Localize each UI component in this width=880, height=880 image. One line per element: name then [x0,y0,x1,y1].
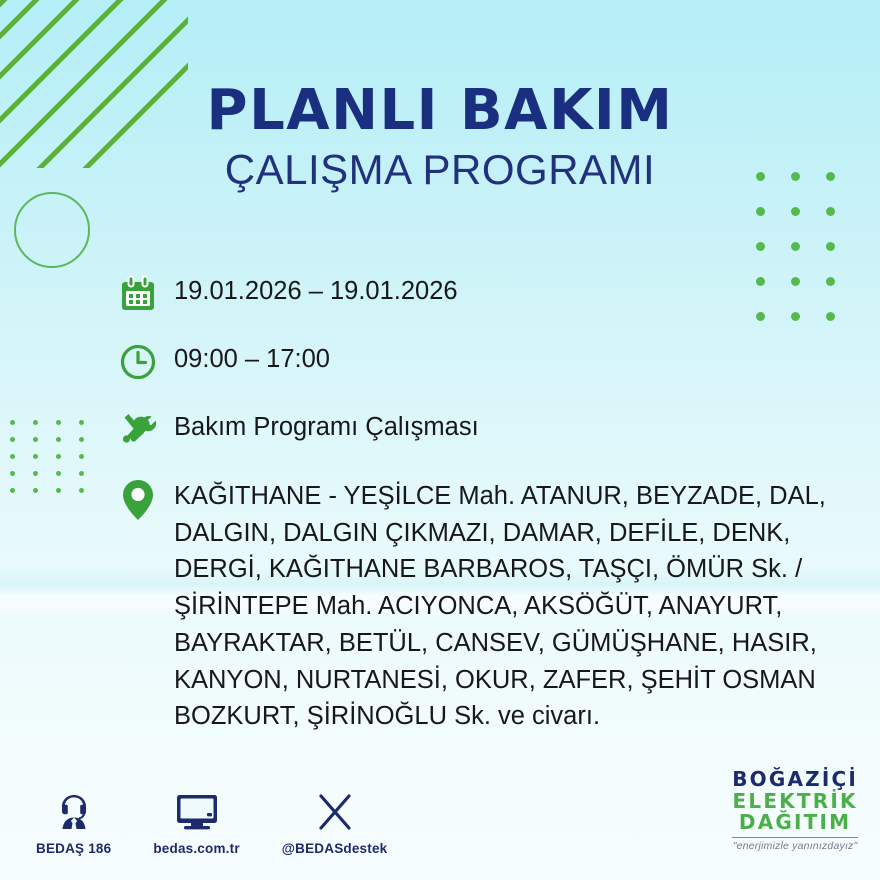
decoration-dot [79,454,84,459]
decoration-dot [33,437,38,442]
support-headset-icon [53,789,95,833]
decoration-dot [33,454,38,459]
decoration-dot [826,207,835,216]
contact-list: BEDAŞ 186 bedas.com.tr [36,789,387,856]
decoration-dot [10,420,15,425]
decoration-dot [56,454,61,459]
contact-social-label: @BEDASdestek [282,841,388,856]
page-title: PLANLI BAKIM ÇALIŞMA PROGRAMI [0,82,880,193]
decoration-dot [10,454,15,459]
decoration-dot [756,207,765,216]
date-range-value: 19.01.2026 – 19.01.2026 [174,272,458,308]
time-range-value: 09:00 – 17:00 [174,340,330,376]
circle-outline-decoration [14,192,90,268]
clock-icon [118,340,174,382]
decoration-dot [10,471,15,476]
info-list: 19.01.2026 – 19.01.2026 09:00 – 17:00 [118,272,840,735]
decoration-dot [56,471,61,476]
contact-website-label: bedas.com.tr [153,841,239,856]
decoration-dot [10,488,15,493]
decoration-dot [56,437,61,442]
decoration-dot [756,242,765,251]
decoration-dot [33,471,38,476]
title-sub: ÇALIŞMA PROGRAMI [0,147,880,193]
footer: BEDAŞ 186 bedas.com.tr [0,766,880,862]
decoration-dot [791,242,800,251]
info-row-work-type: Bakım Programı Çalışması [118,408,840,450]
location-pin-icon [118,476,174,522]
info-row-date: 19.01.2026 – 19.01.2026 [118,272,840,314]
contact-phone-label: BEDAŞ 186 [36,841,111,856]
decoration-dot [79,437,84,442]
decoration-dot [56,488,61,493]
decoration-dot [10,437,15,442]
tools-icon [118,408,174,450]
logo-tagline: "enerjimizle yanınızdayız" [732,837,858,852]
poster-canvas: PLANLI BAKIM ÇALIŞMA PROGRAMI 19.01.2026… [0,0,880,880]
logo-line-3: DAĞITIM [732,812,858,834]
contact-website[interactable]: bedas.com.tr [153,789,239,856]
contact-social[interactable]: @BEDASdestek [282,789,388,856]
monitor-icon [174,789,220,833]
decoration-dot [79,420,84,425]
calendar-icon [118,272,174,314]
decoration-dot [791,207,800,216]
work-type-value: Bakım Programı Çalışması [174,408,479,444]
decoration-dot [79,488,84,493]
x-twitter-icon [314,789,356,833]
decoration-dot [56,420,61,425]
logo-line-1: BOĞAZİÇİ [732,769,858,791]
dot-grid-left-decoration [10,420,94,498]
bedas-logo: BOĞAZİÇİ ELEKTRİK DAĞITIM "enerjimizle y… [732,769,858,852]
decoration-dot [33,488,38,493]
title-main: PLANLI BAKIM [0,82,880,141]
decoration-dot [826,242,835,251]
decoration-dot [79,471,84,476]
contact-phone[interactable]: BEDAŞ 186 [36,789,111,856]
logo-line-2: ELEKTRİK [732,791,858,813]
info-row-time: 09:00 – 17:00 [118,340,840,382]
address-value: KAĞITHANE - YEŞİLCE Mah. ATANUR, BEYZADE… [174,476,840,735]
info-row-address: KAĞITHANE - YEŞİLCE Mah. ATANUR, BEYZADE… [118,476,840,735]
decoration-dot [33,420,38,425]
